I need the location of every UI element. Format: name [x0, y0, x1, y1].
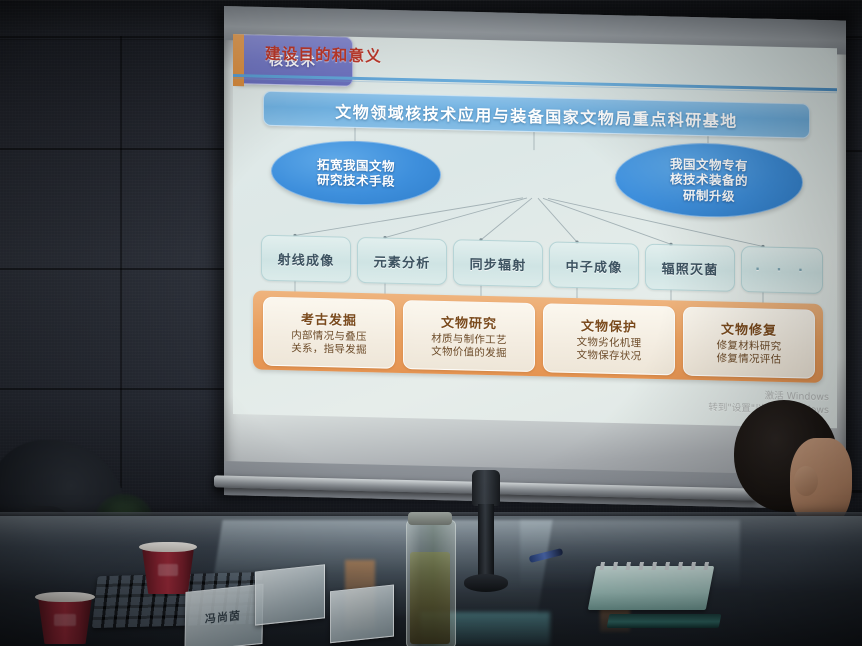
tea-jar-lid — [408, 512, 452, 525]
name-placard-2 — [255, 564, 323, 623]
application-box-archaeology: 考古发掘 内部情况与叠压 关系，指导发掘 — [263, 297, 395, 369]
technique-row: 射线成像 元素分析 同步辐射 中子成像 辐照灭菌 · · · — [253, 234, 823, 291]
application-box-relic-protection: 文物保护 文物劣化机理 文物保存状况 — [543, 303, 675, 375]
technique-label-3: 中子成像 — [566, 255, 623, 275]
technique-label-4: 辐照灭菌 — [662, 258, 719, 278]
wall-seam-3 — [0, 268, 230, 270]
technique-label-2: 同步辐射 — [470, 253, 527, 273]
name-placard-3-face — [330, 585, 394, 644]
application-title-3: 文物修复 — [721, 318, 777, 338]
application-box-relic-restoration: 文物修复 修复材料研究 修复情况评估 — [683, 307, 815, 379]
name-placard-2-face — [255, 564, 325, 625]
slide-main-banner: 文物领域核技术应用与装备国家文物局重点科研基地 — [263, 91, 810, 139]
wall-seam-v-1 — [120, 36, 122, 488]
paper-cup-front — [38, 592, 92, 646]
slide-title: 建设目的和意义 — [265, 42, 382, 67]
application-line2-0: 关系，指导发掘 — [291, 342, 367, 357]
name-placard-1: 冯尚茵 — [184, 584, 261, 646]
technique-box-element-analysis: 元素分析 — [357, 237, 447, 285]
technique-label-5: · · · — [755, 262, 809, 278]
node-equipment-upgrade-label: 我国文物专有核技术装备的研制升级 — [670, 156, 748, 204]
node-broaden-research: 拓宽我国文物研究技术手段 — [271, 139, 441, 207]
spiral-notebook — [588, 566, 715, 610]
wall-seam-4 — [0, 388, 232, 390]
technique-box-xray-imaging: 射线成像 — [261, 235, 351, 283]
conference-room-scene: 建设目的和意义 — [0, 0, 862, 646]
application-line2-2: 文物保存状况 — [577, 349, 642, 364]
application-title-0: 考古发掘 — [301, 308, 357, 328]
person-ear — [794, 466, 818, 496]
technique-label-1: 元素分析 — [374, 251, 431, 271]
application-line2-1: 文物价值的发掘 — [431, 346, 507, 361]
paper-cup-logo — [54, 614, 76, 626]
paper-cup-back — [142, 542, 194, 598]
technique-box-more: · · · — [741, 246, 823, 294]
application-band: 考古发掘 内部情况与叠压 关系，指导发掘 文物研究 材质与制作工艺 文物价值的发… — [253, 290, 823, 382]
microphone-head — [472, 470, 500, 506]
application-box-relic-research: 文物研究 材质与制作工艺 文物价值的发掘 — [403, 300, 535, 372]
technique-box-irradiation-sterilization: 辐照灭菌 — [645, 244, 735, 292]
notebook-secondary — [607, 614, 722, 628]
microphone-stem — [478, 504, 494, 582]
name-placard-3 — [330, 585, 392, 642]
application-line2-3: 修复情况评估 — [717, 352, 782, 367]
paper-cup-logo — [158, 564, 179, 576]
presentation-slide: 建设目的和意义 — [233, 34, 837, 428]
application-title-1: 文物研究 — [441, 311, 497, 331]
technique-box-synchrotron: 同步辐射 — [453, 239, 543, 287]
conference-microphone[interactable] — [472, 470, 500, 592]
node-equipment-upgrade: 我国文物专有核技术装备的研制升级 — [615, 141, 803, 219]
node-broaden-research-label: 拓宽我国文物研究技术手段 — [317, 157, 395, 189]
technique-box-neutron-imaging: 中子成像 — [549, 241, 639, 289]
microphone-base — [464, 574, 508, 592]
notebook-rings — [599, 562, 711, 570]
paper-cup-rim — [35, 592, 95, 602]
technique-label-0: 射线成像 — [278, 249, 335, 269]
slide-main-banner-text: 文物领域核技术应用与装备国家文物局重点科研基地 — [335, 98, 738, 131]
tea-jar-contents — [410, 552, 450, 644]
paper-cup-rim — [139, 542, 197, 552]
glass-tea-jar — [406, 512, 454, 646]
application-title-2: 文物保护 — [581, 315, 637, 335]
